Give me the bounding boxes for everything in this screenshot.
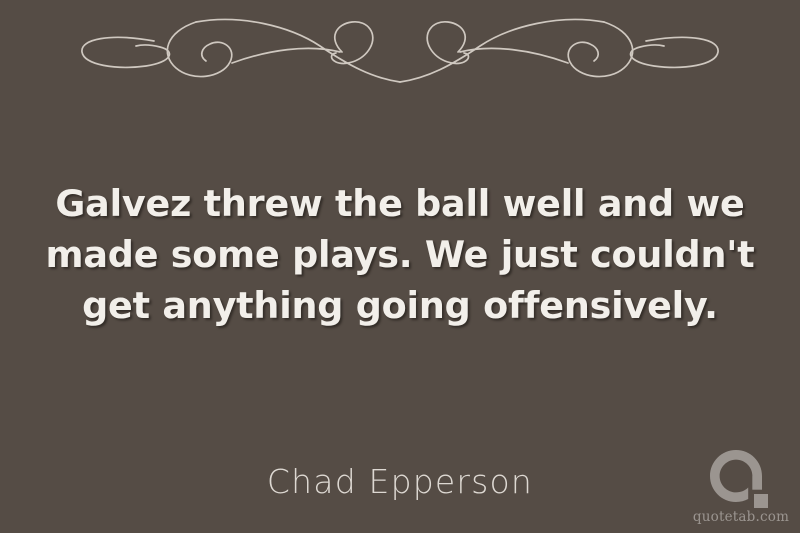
flourish-icon — [82, 19, 718, 82]
quote-text: Galvez threw the ball well and we made s… — [0, 178, 800, 331]
watermark-site-label: quotetab.com — [692, 509, 790, 525]
quote-line-1: Galvez threw the ball well and we — [0, 178, 800, 229]
author-name: Chad Epperson — [267, 462, 533, 501]
watermark: quotetab.com — [692, 450, 790, 525]
ornament-flourish-divider — [0, 8, 800, 100]
quote-card: Galvez threw the ball well and we made s… — [0, 0, 800, 533]
quote-line-2: made some plays. We just couldn't — [0, 229, 800, 280]
quote-author: Chad Epperson — [0, 462, 800, 501]
quotetab-q-logo-icon — [710, 450, 772, 508]
quote-line-3: get anything going offensively. — [0, 280, 800, 331]
